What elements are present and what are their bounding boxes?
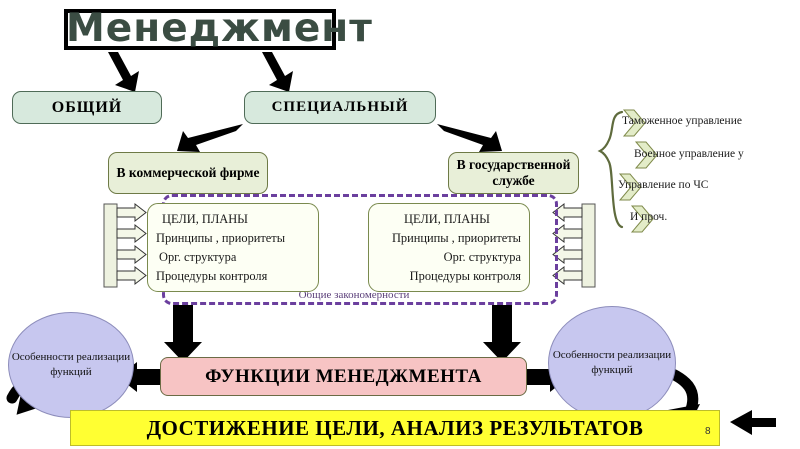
brace-list-item: Управление по ЧС (616, 172, 708, 198)
box-special-management[interactable]: СПЕЦИАЛЬНЫЙ (244, 91, 436, 124)
box-commercial-firm[interactable]: В коммерческой фирме (108, 152, 268, 194)
bar-management-functions[interactable]: ФУНКЦИИ МЕНЕДЖМЕНТА (160, 357, 527, 396)
ellipse-left-features: Особенности реализации функций (8, 312, 134, 418)
slide-canvas: Менеджмент ОБЩИЙ СПЕЦИАЛЬНЫЙ В коммерчес… (0, 0, 800, 449)
brace-item-label: Управление по ЧС (618, 179, 708, 191)
comb-arrows-right (553, 204, 595, 287)
list-item: Процедуры контроля (156, 267, 310, 286)
arrow-title-to-special (262, 52, 293, 92)
brace-item-label: И проч. (630, 211, 667, 223)
brace-list-item: Таможенное управление (620, 108, 742, 134)
ellipse-right-features: Особенности реализации функций (548, 306, 676, 420)
list-item: Орг. структура (156, 248, 310, 267)
curly-brace (600, 112, 622, 227)
arrow-right-down-to-functions (483, 305, 521, 362)
list-box-state: ЦЕЛИ, ПЛАНЫ Принципы , приоритеты Орг. с… (368, 203, 530, 292)
arrow-into-result-bar (730, 410, 776, 435)
box-state-service[interactable]: В государственной службе (448, 152, 579, 194)
list-item: Принципы , приоритеты (377, 229, 521, 248)
arrow-special-to-commercial (177, 124, 243, 152)
box-general-management[interactable]: ОБЩИЙ (12, 91, 162, 124)
list-item: ЦЕЛИ, ПЛАНЫ (377, 210, 521, 229)
arrow-left-down-to-functions (164, 305, 202, 362)
brace-list-item: Военное управление у (632, 141, 744, 167)
list-item: Орг. структура (377, 248, 521, 267)
page-title: Менеджмент (66, 7, 366, 53)
page-number: 8 (705, 426, 711, 437)
list-item: Процедуры контроля (377, 267, 521, 286)
arrow-title-to-general (108, 52, 139, 92)
list-item: ЦЕЛИ, ПЛАНЫ (156, 210, 310, 229)
brace-item-label: Таможенное управление (622, 115, 742, 127)
list-item: Принципы , приоритеты (156, 229, 310, 248)
arrow-special-to-state (437, 124, 502, 152)
list-box-commercial: ЦЕЛИ, ПЛАНЫ Принципы , приоритеты Орг. с… (147, 203, 319, 292)
brace-list-item: И проч. (628, 204, 667, 230)
comb-arrows-left (104, 204, 146, 287)
bar-goal-achievement[interactable]: ДОСТИЖЕНИЕ ЦЕЛИ, АНАЛИЗ РЕЗУЛЬТАТОВ (70, 410, 720, 446)
brace-item-label: Военное управление у (634, 148, 744, 160)
